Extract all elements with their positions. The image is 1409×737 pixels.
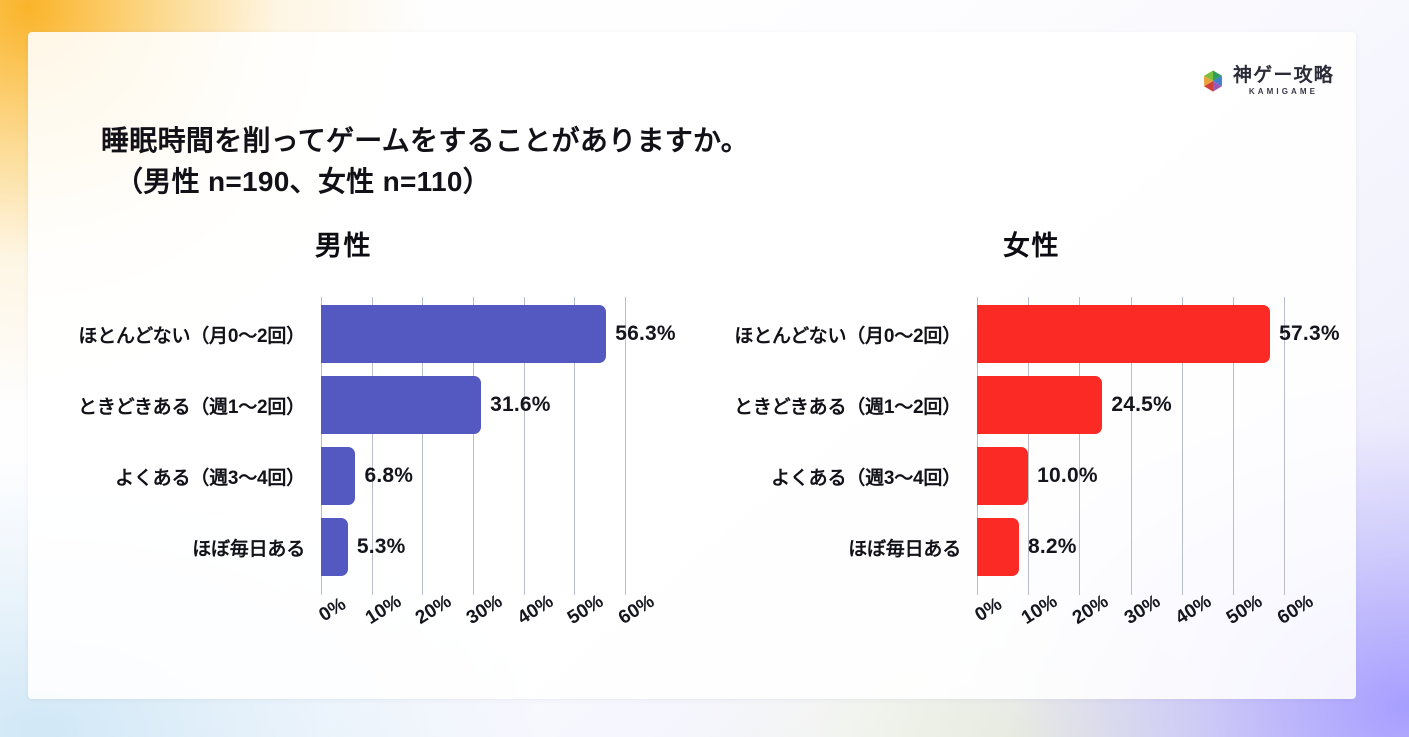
chart-title-male: 男性	[315, 224, 372, 263]
bar-female-3	[977, 518, 1019, 576]
bar-value-label: 5.3%	[357, 535, 406, 559]
page-title: 睡眠時間を削ってゲームをすることがありますか。 （男性 n=190、女性 n=1…	[101, 120, 1001, 203]
bars-female: 57.3% 24.5% 10.0% 8.2%	[977, 303, 1284, 588]
category-label: ほとんどない（月0〜2回）	[734, 305, 961, 363]
x-tick-label: 20%	[412, 591, 456, 630]
x-tick-label: 20%	[1069, 591, 1113, 630]
category-label: ほとんどない（月0〜2回）	[78, 305, 305, 363]
x-tick-label: 50%	[1223, 591, 1267, 630]
category-labels-female: ほとんどない（月0〜2回） ときどきある（週1〜2回） よくある（週3〜4回） …	[692, 303, 969, 588]
x-tick-label: 60%	[615, 591, 659, 630]
x-axis-ticks-female: 0%10%20%30%40%50%60%	[977, 595, 1284, 657]
bar-value-label: 6.8%	[364, 464, 413, 488]
chart-title-female: 女性	[1003, 224, 1060, 263]
bar-row: 31.6%	[321, 376, 625, 434]
hexagon-logo-icon	[1200, 68, 1226, 94]
plot-area-female: 57.3% 24.5% 10.0% 8.2%	[977, 303, 1284, 588]
logo-jp-name: 神ゲー攻略	[1233, 66, 1334, 85]
category-label: ときどきある（週1〜2回）	[78, 376, 305, 434]
bar-row: 56.3%	[321, 305, 625, 363]
category-label: ときどきある（週1〜2回）	[734, 376, 961, 434]
x-tick-label: 40%	[514, 591, 558, 630]
bar-female-2	[977, 447, 1028, 505]
chart-panel-male: 男性 ほとんどない（月0〜2回） ときどきある（週1〜2回） よくある（週3〜4…	[28, 210, 692, 680]
bar-row: 24.5%	[977, 376, 1284, 434]
bar-row: 6.8%	[321, 447, 625, 505]
x-tick-label: 10%	[1018, 591, 1062, 630]
bar-value-label: 24.5%	[1111, 393, 1172, 417]
logo-en-name: KAMIGAME	[1233, 88, 1334, 96]
chart-panel-female: 女性 ほとんどない（月0〜2回） ときどきある（週1〜2回） よくある（週3〜4…	[692, 210, 1356, 680]
bar-value-label: 57.3%	[1279, 322, 1340, 346]
bar-row: 8.2%	[977, 518, 1284, 576]
bar-male-3	[321, 518, 348, 576]
bar-row: 57.3%	[977, 305, 1284, 363]
x-tick-label: 40%	[1172, 591, 1216, 630]
x-tick-label: 50%	[564, 591, 608, 630]
category-label: よくある（週3〜4回）	[771, 447, 961, 505]
x-tick-label: 10%	[362, 591, 406, 630]
x-tick-label: 0%	[315, 594, 350, 627]
bar-female-1	[977, 376, 1102, 434]
category-labels-male: ほとんどない（月0〜2回） ときどきある（週1〜2回） よくある（週3〜4回） …	[38, 303, 313, 588]
plot-area-male: 56.3% 31.6% 6.8% 5.3%	[321, 303, 625, 588]
category-label: ほぼ毎日ある	[848, 518, 961, 576]
category-label: よくある（週3〜4回）	[115, 447, 305, 505]
slide-card: 神ゲー攻略 KAMIGAME 睡眠時間を削ってゲームをすることがありますか。 （…	[28, 32, 1356, 699]
bars-male: 56.3% 31.6% 6.8% 5.3%	[321, 303, 625, 588]
x-tick-label: 0%	[971, 594, 1006, 627]
bar-row: 10.0%	[977, 447, 1284, 505]
x-tick-label: 60%	[1274, 591, 1318, 630]
charts-container: 男性 ほとんどない（月0〜2回） ときどきある（週1〜2回） よくある（週3〜4…	[28, 210, 1356, 680]
bar-female-0	[977, 305, 1270, 363]
x-tick-label: 30%	[1120, 591, 1164, 630]
x-axis-ticks-male: 0%10%20%30%40%50%60%	[321, 595, 625, 657]
bar-value-label: 31.6%	[490, 393, 551, 417]
brand-logo: 神ゲー攻略 KAMIGAME	[1200, 66, 1334, 96]
bar-male-2	[321, 447, 355, 505]
bar-male-0	[321, 305, 606, 363]
bar-row: 5.3%	[321, 518, 625, 576]
bar-male-1	[321, 376, 481, 434]
headline-line-2: （男性 n=190、女性 n=110）	[101, 161, 1001, 202]
headline-line-1: 睡眠時間を削ってゲームをすることがありますか。	[101, 120, 1001, 161]
x-tick-label: 30%	[463, 591, 507, 630]
bar-value-label: 56.3%	[615, 322, 676, 346]
category-label: ほぼ毎日ある	[192, 518, 305, 576]
bar-value-label: 10.0%	[1037, 464, 1098, 488]
bar-value-label: 8.2%	[1028, 535, 1077, 559]
